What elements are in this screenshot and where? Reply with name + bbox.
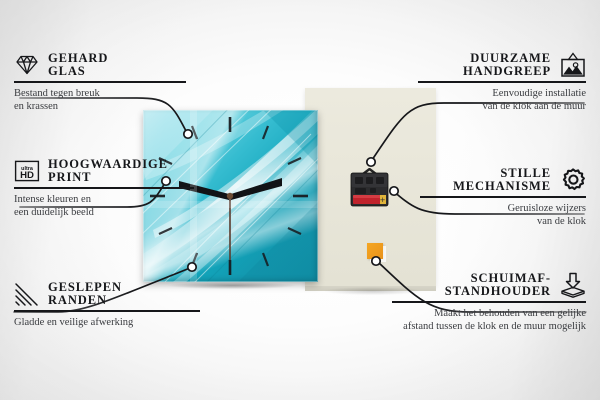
feature-titles: STILLE MECHANISME bbox=[453, 167, 551, 193]
hanging-picture-icon bbox=[560, 52, 586, 78]
feature-title-line2: HANDGREEP bbox=[463, 65, 551, 78]
feature-titles: DUURZAME HANDGREEP bbox=[463, 52, 551, 78]
svg-text:HD: HD bbox=[20, 170, 34, 181]
diamond-icon bbox=[14, 52, 40, 78]
feature-title-line2: PRINT bbox=[48, 171, 168, 184]
feature-divider bbox=[14, 81, 186, 83]
feature-divider bbox=[14, 187, 194, 189]
feature-description: Gladde en veilige afwerking bbox=[14, 316, 200, 329]
connector-dot-randen bbox=[188, 263, 196, 271]
feature-title-line2: MECHANISME bbox=[453, 180, 551, 193]
feature-divider bbox=[418, 81, 586, 83]
feature-gehard-glas: GEHARD GLAS Bestand tegen breuk en krass… bbox=[14, 52, 186, 113]
feature-header: ultra HD HOOGWAARDIGE PRINT bbox=[14, 158, 194, 184]
gear-icon bbox=[560, 167, 586, 193]
feature-hoogwaardige-print: ultra HD HOOGWAARDIGE PRINT Intense kleu… bbox=[14, 158, 194, 219]
feature-divider bbox=[420, 196, 586, 198]
feature-header: GESLEPEN RANDEN bbox=[14, 281, 200, 307]
infographic-canvas: + bbox=[0, 0, 600, 400]
feature-description: Geruisloze wijzers van de klok bbox=[420, 202, 586, 228]
feature-description: Eenvoudige installatie van de klok aan d… bbox=[418, 87, 586, 113]
connector-dot-gehard-glas bbox=[184, 130, 192, 138]
press-down-pad-icon bbox=[560, 272, 586, 298]
feature-header: STILLE MECHANISME bbox=[420, 167, 586, 193]
feature-description: Maakt het behouden van een gelijke afsta… bbox=[392, 307, 586, 333]
connector-dot-mechanisme bbox=[390, 187, 398, 195]
feature-title-line2: GLAS bbox=[48, 65, 108, 78]
feature-divider bbox=[14, 310, 200, 312]
beveled-edge-icon bbox=[14, 281, 40, 307]
feature-titles: GESLEPEN RANDEN bbox=[48, 281, 122, 307]
feature-header: GEHARD GLAS bbox=[14, 52, 186, 78]
connector-dot-schuim bbox=[372, 257, 380, 265]
feature-description: Bestand tegen breuk en krassen bbox=[14, 87, 186, 113]
ultra-hd-icon: ultra HD bbox=[14, 158, 40, 184]
connector-dot-handgreep bbox=[367, 158, 375, 166]
feature-geslepen-randen: GESLEPEN RANDEN Gladde en veilige afwerk… bbox=[14, 281, 200, 329]
feature-header: DUURZAME HANDGREEP bbox=[418, 52, 586, 78]
feature-titles: SCHUIMAF- STANDHOUDER bbox=[445, 272, 551, 298]
feature-header: SCHUIMAF- STANDHOUDER bbox=[392, 272, 586, 298]
feature-titles: HOOGWAARDIGE PRINT bbox=[48, 158, 168, 184]
feature-stille-mechanisme: STILLE MECHANISME Geruisloze wijzers van… bbox=[420, 167, 586, 228]
feature-description: Intense kleuren en een duidelijk beeld bbox=[14, 193, 194, 219]
feature-title-line2: RANDEN bbox=[48, 294, 122, 307]
feature-title-line2: STANDHOUDER bbox=[445, 285, 551, 298]
feature-schuimafstandhouder: SCHUIMAF- STANDHOUDER Maakt het behouden… bbox=[392, 272, 586, 333]
feature-divider bbox=[392, 301, 586, 303]
feature-titles: GEHARD GLAS bbox=[48, 52, 108, 78]
feature-duurzame-handgreep: DUURZAME HANDGREEP Eenvoudige installati… bbox=[418, 52, 586, 113]
